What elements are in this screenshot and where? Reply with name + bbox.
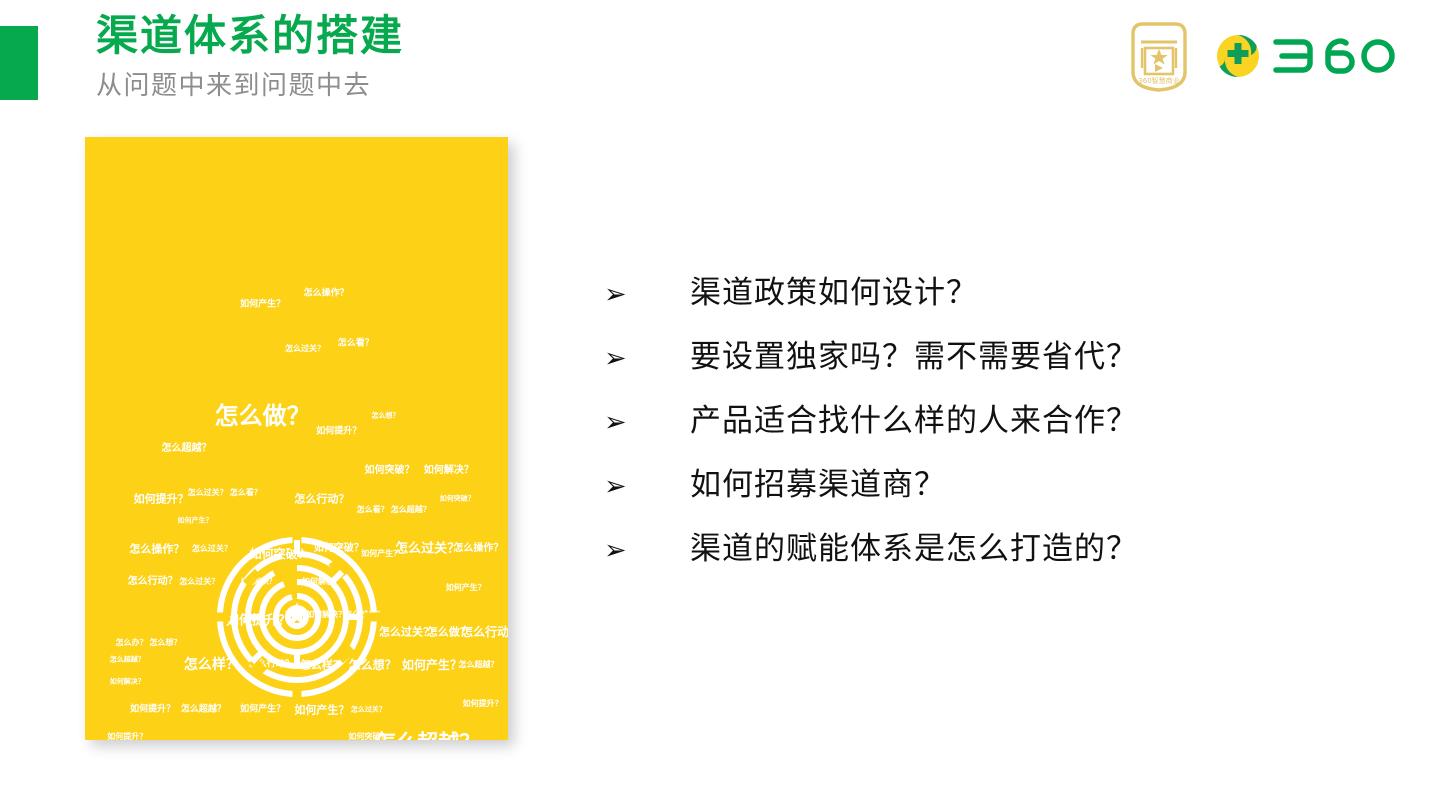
- arrow-bullet-icon: ➢: [604, 281, 690, 308]
- word-cloud-word: 怎么超越？: [181, 705, 226, 714]
- word-cloud-word: 如何产生？: [240, 300, 285, 309]
- question-image-card: 如何产生？怎么操作？怎么过关？怎么看？怎么做？如何提升？怎么想？怎么超越？如何突…: [85, 137, 508, 740]
- word-cloud-word: 如何产生？: [402, 659, 462, 671]
- list-item[interactable]: ➢ 产品适合找什么样的人来合作？: [604, 390, 1344, 454]
- word-cloud-word: 怎么过关？: [351, 706, 386, 713]
- word-cloud-word: 如何提升？: [316, 428, 361, 437]
- word-cloud-word: 怎么行动？: [294, 493, 349, 504]
- arrow-bullet-icon: ➢: [604, 537, 690, 564]
- word-cloud-word: 怎么过关？: [379, 627, 434, 638]
- word-cloud-word: 如何解决？: [110, 679, 145, 686]
- word-cloud-word: 怎么看？: [357, 506, 389, 514]
- word-cloud-word: 怎么过关？: [188, 489, 228, 497]
- word-cloud-word: 如何提升？: [134, 493, 189, 504]
- 360-wordmark: [1272, 33, 1396, 79]
- list-item-label: 渠道的赋能体系是怎么打造的？: [690, 531, 1138, 568]
- word-cloud-word: 怎么想？: [149, 639, 181, 647]
- word-cloud-word: 怎么想？: [371, 412, 399, 419]
- word-cloud-word: 怎么办？: [116, 639, 148, 647]
- word-cloud-word: 怎么看？: [230, 489, 262, 497]
- word-cloud-word: 如何提升？: [130, 705, 175, 714]
- word-cloud-word: 如何突破？: [440, 495, 475, 502]
- brand-logo: [1210, 28, 1396, 84]
- word-cloud-word: 怎么看？: [338, 339, 374, 348]
- word-cloud-word: 怎么超越？: [110, 656, 145, 663]
- word-cloud-word: 怎么做？: [215, 404, 311, 428]
- 360-mark-icon: [1210, 28, 1266, 84]
- arrow-bullet-icon: ➢: [604, 473, 690, 500]
- word-cloud-word: 怎么过关？: [285, 345, 325, 353]
- list-item-label: 如何招募渠道商？: [690, 467, 946, 504]
- word-cloud-word: 如何解决？: [424, 466, 474, 476]
- circular-maze-icon: [212, 532, 382, 702]
- word-cloud-word: 如何突破？: [365, 466, 415, 476]
- shield-badge-icon: 360智慧商业: [1126, 18, 1192, 94]
- word-cloud-word: 如何产生？: [294, 704, 349, 715]
- word-cloud-word: 怎么超越？: [391, 506, 431, 514]
- word-cloud-word: 怎么操作？: [129, 543, 184, 554]
- list-item[interactable]: ➢ 渠道的赋能体系是怎么打造的？: [604, 518, 1344, 582]
- logo-area: 360智慧商业: [1126, 18, 1396, 94]
- word-cloud-word: 怎么超越？: [162, 444, 212, 454]
- word-cloud-word: 怎么超越？: [458, 661, 498, 669]
- arrow-bullet-icon: ➢: [604, 409, 690, 436]
- page-subtitle: 从问题中来到问题中去: [96, 71, 404, 102]
- list-item[interactable]: ➢ 如何招募渠道商？: [604, 454, 1344, 518]
- title-group: 渠道体系的搭建 从问题中来到问题中去: [96, 10, 404, 102]
- list-item[interactable]: ➢ 渠道政策如何设计？: [604, 262, 1344, 326]
- arrow-bullet-icon: ➢: [604, 345, 690, 372]
- page-title: 渠道体系的搭建: [96, 10, 404, 61]
- list-item-label: 渠道政策如何设计？: [690, 275, 978, 312]
- title-accent-block: [0, 26, 38, 100]
- slide: 渠道体系的搭建 从问题中来到问题中去 360智慧商业: [0, 0, 1440, 810]
- svg-text:360智慧商业: 360智慧商业: [1138, 76, 1179, 85]
- list-item-label: 要设置独家吗？需不需要省代？: [690, 339, 1138, 376]
- list-item-label: 产品适合找什么样的人来合作？: [690, 403, 1138, 440]
- word-cloud-word: 怎么超越？: [375, 733, 480, 740]
- word-cloud-word: 怎么行动？: [461, 626, 508, 638]
- word-cloud-word: 如何提升？: [107, 733, 147, 740]
- word-cloud-word: 怎么过关？: [395, 542, 460, 555]
- question-list: ➢ 渠道政策如何设计？ ➢ 要设置独家吗？需不需要省代？ ➢ 产品适合找什么样的…: [604, 262, 1344, 582]
- word-cloud-word: 怎么操作？: [304, 289, 349, 298]
- word-cloud-word: 如何产生？: [177, 518, 212, 525]
- word-cloud-word: 怎么操作？: [453, 544, 503, 554]
- list-item[interactable]: ➢ 要设置独家吗？需不需要省代？: [604, 326, 1344, 390]
- word-cloud-word: 如何产生？: [240, 705, 285, 714]
- word-cloud-word: 如何提升？: [463, 700, 503, 708]
- word-cloud-word: 怎么行动？: [128, 577, 178, 587]
- word-cloud-word: 如何产生？: [446, 584, 486, 592]
